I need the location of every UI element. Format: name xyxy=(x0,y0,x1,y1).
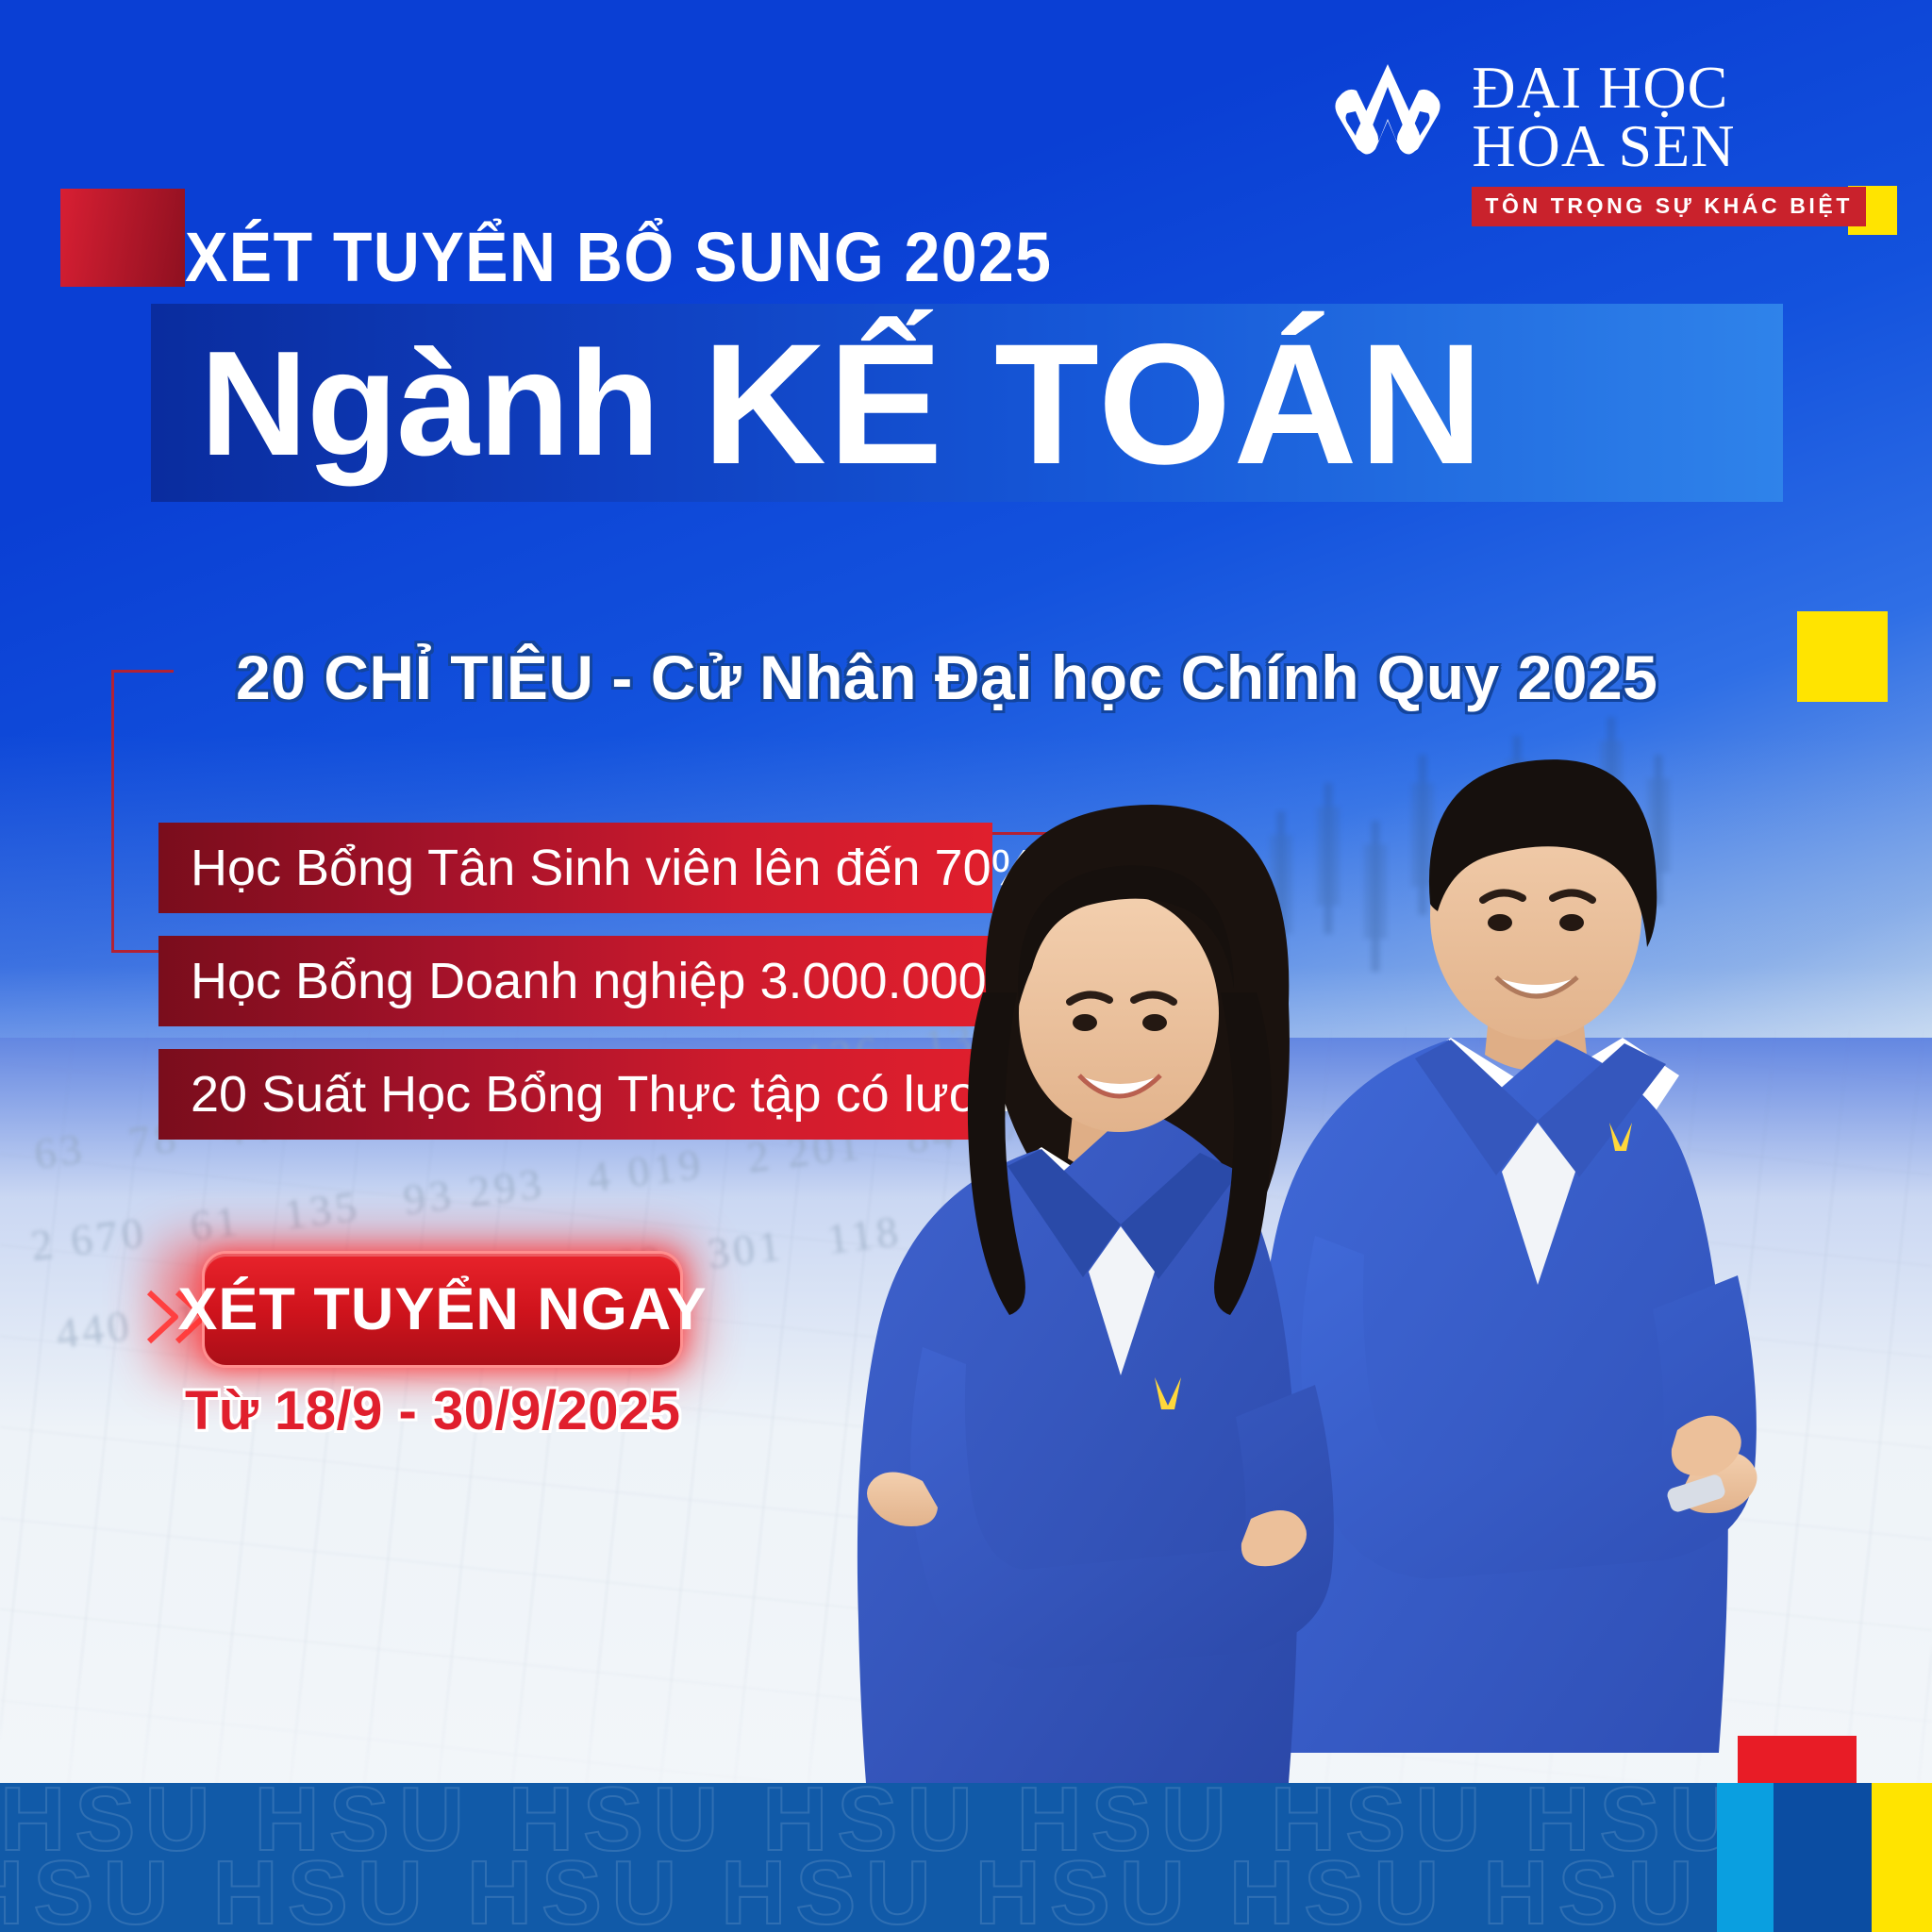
apply-now-button[interactable]: XÉT TUYỂN NGAY xyxy=(202,1251,683,1368)
footer-pattern-band: HSU HSU HSU HSU HSU HSU HSU HSU HSU HSU … xyxy=(0,1783,1932,1932)
title-major-name: KẾ TOÁN xyxy=(703,318,1486,490)
logo-name-line-1: ĐẠI HỌC xyxy=(1472,58,1866,117)
logo-tagline: TÔN TRỌNG SỰ KHÁC BIỆT xyxy=(1472,187,1866,226)
logo-name-line-2: HOA SEN xyxy=(1472,117,1866,175)
female-student xyxy=(858,805,1334,1783)
admissions-poster: 63 78 440 429 3 081 95 873 136 138 2 670… xyxy=(0,0,1932,1932)
application-date-range: Từ 18/9 - 30/9/2025 xyxy=(185,1379,681,1442)
male-student xyxy=(1256,759,1757,1753)
hsu-pattern-text: HSU HSU HSU HSU HSU HSU HSU HSU HSU HSU … xyxy=(0,1783,1932,1932)
footer-chip-yellow xyxy=(1872,1783,1932,1932)
title-prefix: Ngành xyxy=(200,329,659,478)
decorative-red-square-top-left xyxy=(60,189,185,287)
footer-chip-cyan xyxy=(1717,1783,1774,1932)
students-photo xyxy=(791,632,1904,1783)
hsu-lotus-flame-logo-icon xyxy=(1328,58,1447,175)
university-logo: ĐẠI HỌC HOA SEN TÔN TRỌNG SỰ KHÁC BIỆT xyxy=(1328,58,1866,226)
footer-chip-navy xyxy=(1774,1783,1872,1932)
hsu-pattern-row: HSU HSU HSU HSU HSU HSU HSU HSU HSU HSU … xyxy=(0,1857,1932,1930)
main-title: Ngành KẾ TOÁN xyxy=(200,291,1804,517)
eyebrow-headline: XÉT TUYỂN BỔ SUNG 2025 xyxy=(185,223,1052,292)
